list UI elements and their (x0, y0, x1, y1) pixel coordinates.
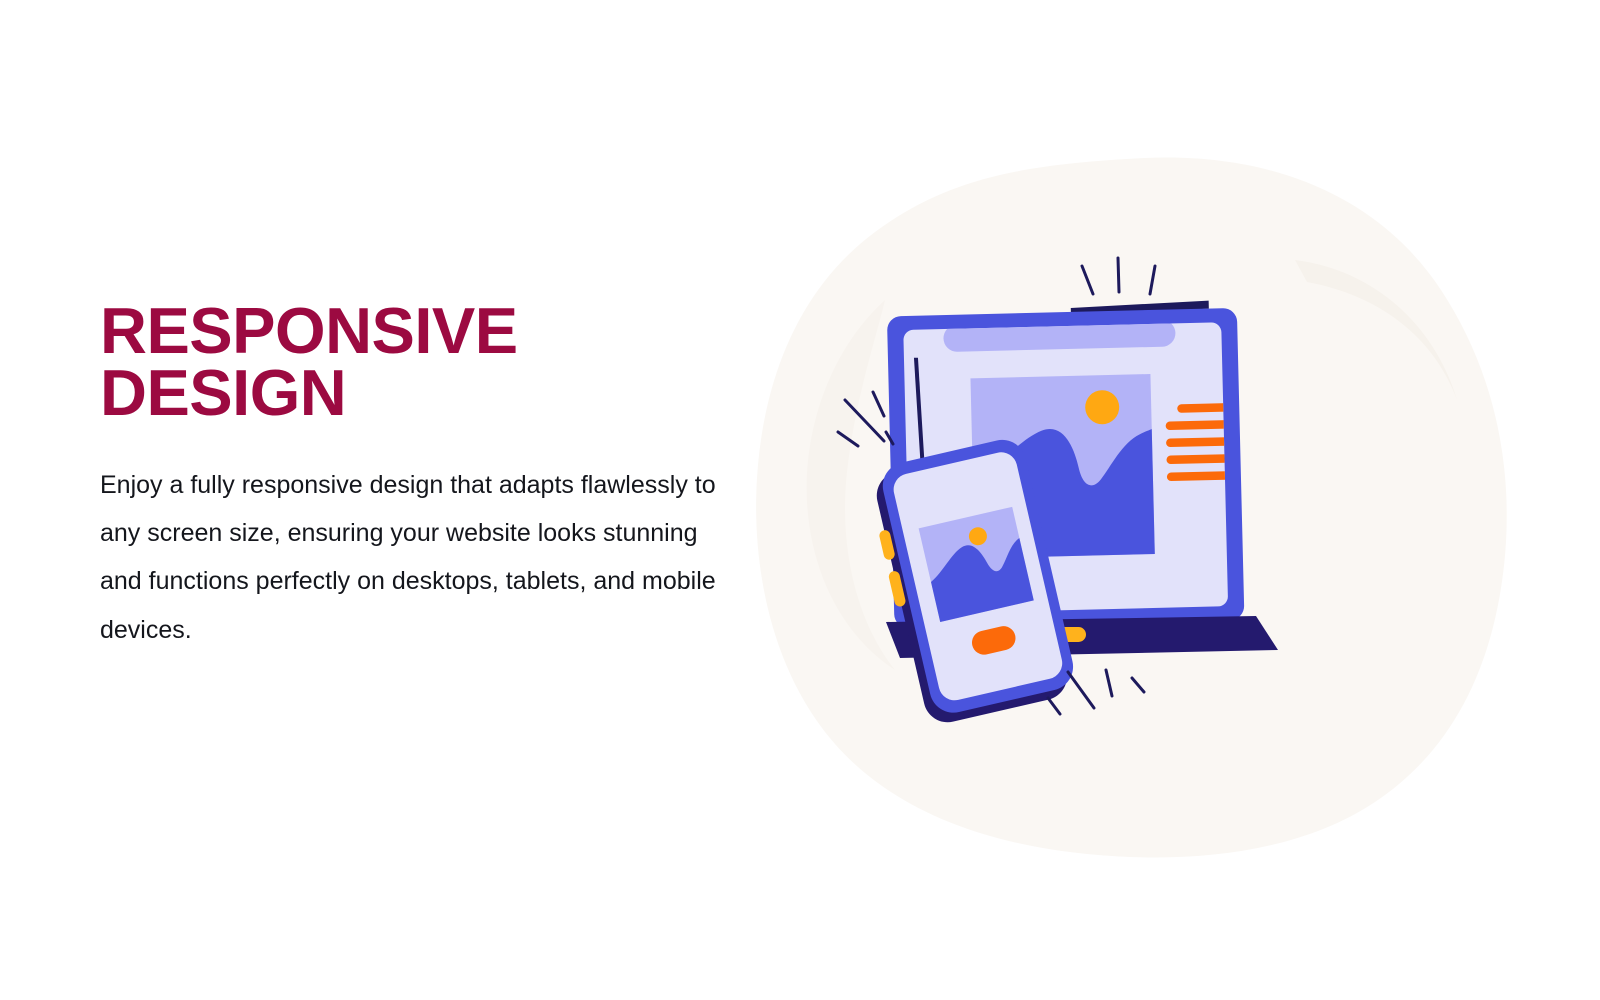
spark-group-top (1082, 258, 1155, 294)
hero-section: RESPONSIVE DESIGN Enjoy a fully responsi… (0, 0, 1600, 1000)
page-title-line-2: DESIGN (100, 362, 720, 424)
spark-line (1106, 670, 1112, 696)
spark-line (1082, 266, 1093, 294)
page-title-line-1: RESPONSIVE (100, 300, 720, 362)
page-title: RESPONSIVE DESIGN (100, 300, 720, 425)
spark-line (1048, 698, 1060, 714)
spark-line (1068, 672, 1094, 708)
text-line (1166, 420, 1232, 430)
text-line (1167, 471, 1233, 481)
responsive-devices-illustration (860, 230, 1460, 750)
hero-copy: RESPONSIVE DESIGN Enjoy a fully responsi… (100, 300, 720, 654)
spark-line (1132, 678, 1144, 692)
hero-description: Enjoy a fully responsive design that ada… (100, 461, 720, 654)
spark-line (873, 392, 884, 416)
spark-line (838, 432, 858, 446)
text-line (1166, 437, 1232, 447)
text-line (1166, 454, 1232, 464)
spark-line (1118, 258, 1119, 292)
spark-group-left (838, 392, 893, 446)
spark-line (1150, 266, 1155, 294)
